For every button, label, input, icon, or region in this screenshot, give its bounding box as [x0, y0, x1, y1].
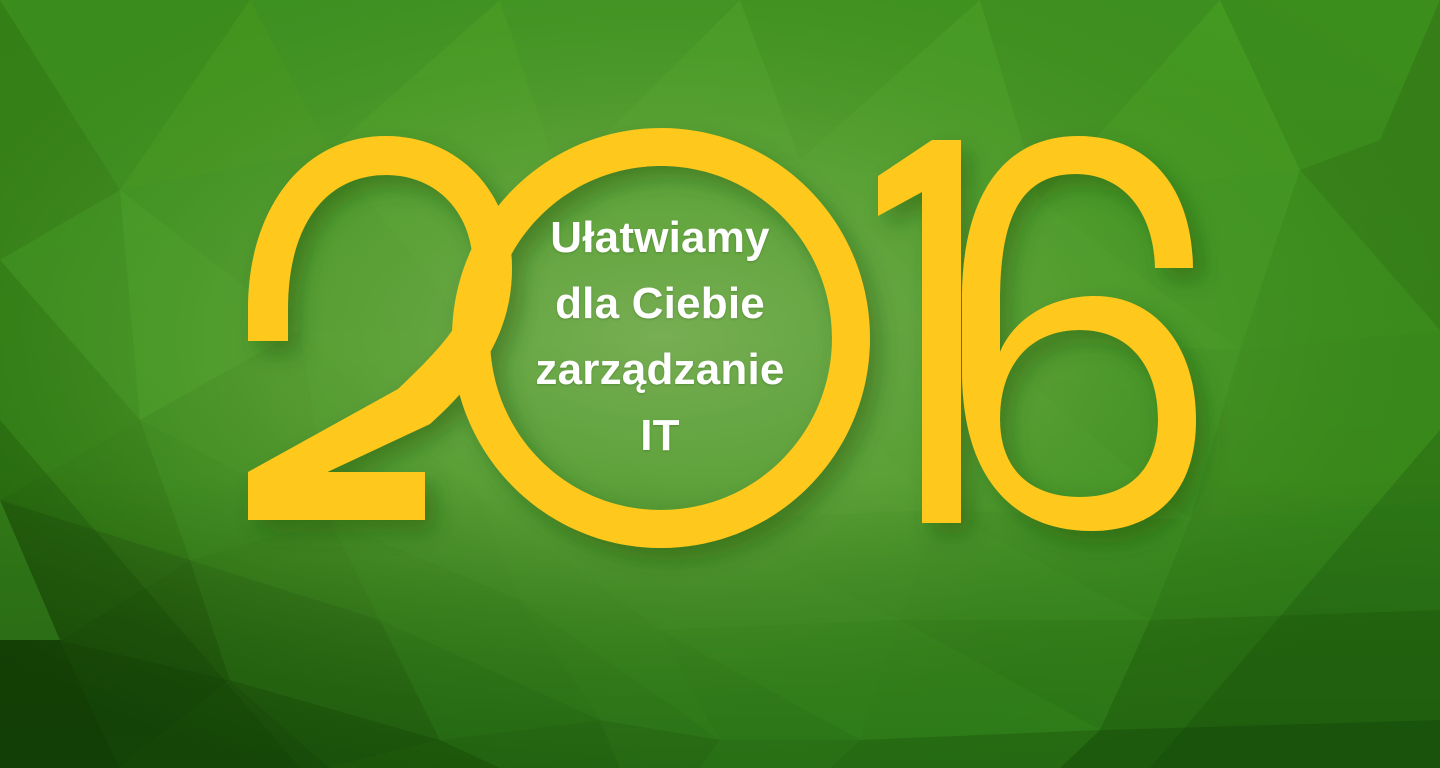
year-digit-1: [878, 140, 961, 523]
year-digit-6: [962, 136, 1196, 531]
tagline-line-2: dla Ciebie: [470, 271, 850, 337]
banner-canvas: Ułatwiamy dla Ciebie zarządzanie IT: [0, 0, 1440, 768]
tagline-line-3: zarządzanie: [470, 337, 850, 403]
tagline: Ułatwiamy dla Ciebie zarządzanie IT: [470, 205, 850, 469]
tagline-line-4: IT: [470, 403, 850, 469]
tagline-line-1: Ułatwiamy: [470, 205, 850, 271]
